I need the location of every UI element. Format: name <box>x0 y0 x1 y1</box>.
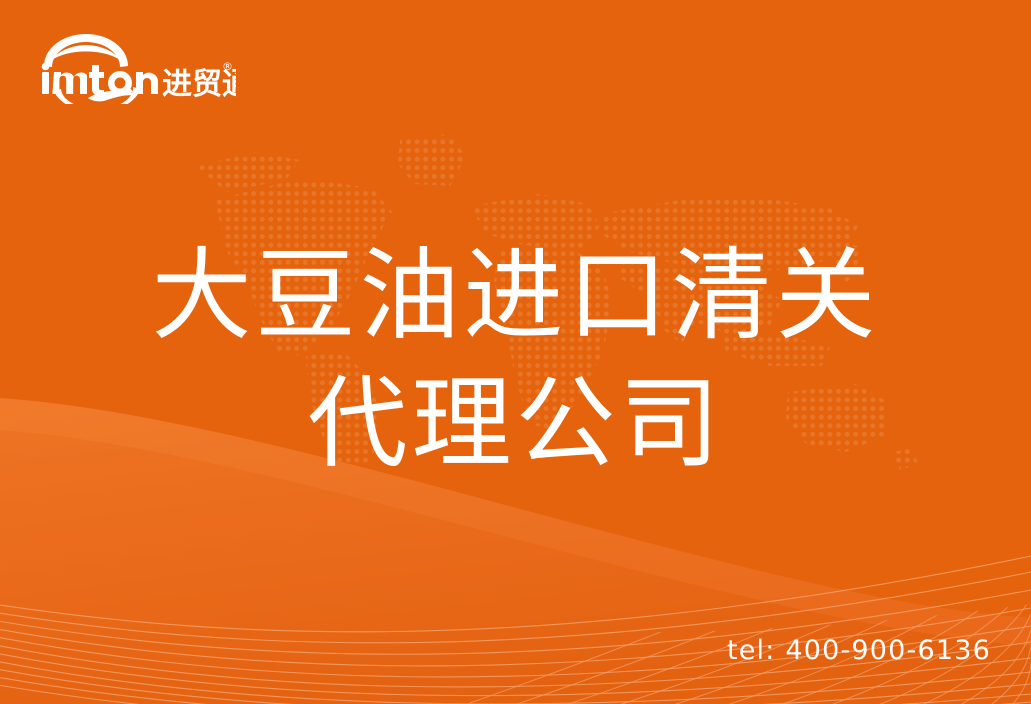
brand-logo[interactable]: 进贸通 ® <box>36 26 236 104</box>
title-line-2: 代理公司 <box>0 360 1031 488</box>
line-fan-steep <box>300 470 1031 704</box>
contact-telephone[interactable]: tel: 400-900-6136 <box>727 635 991 666</box>
promo-banner: 进贸通 ® 大豆油进口清关 代理公司 tel: 400-900-6136 <box>0 0 1031 704</box>
banner-title: 大豆油进口清关 代理公司 <box>0 232 1031 488</box>
title-line-1: 大豆油进口清关 <box>0 232 1031 360</box>
globe-arc-icon <box>44 34 128 67</box>
line-fan <box>0 556 1031 704</box>
world-map-dot-pattern <box>0 0 1031 704</box>
registered-mark: ® <box>222 60 233 73</box>
wave-decoration <box>0 0 1031 704</box>
